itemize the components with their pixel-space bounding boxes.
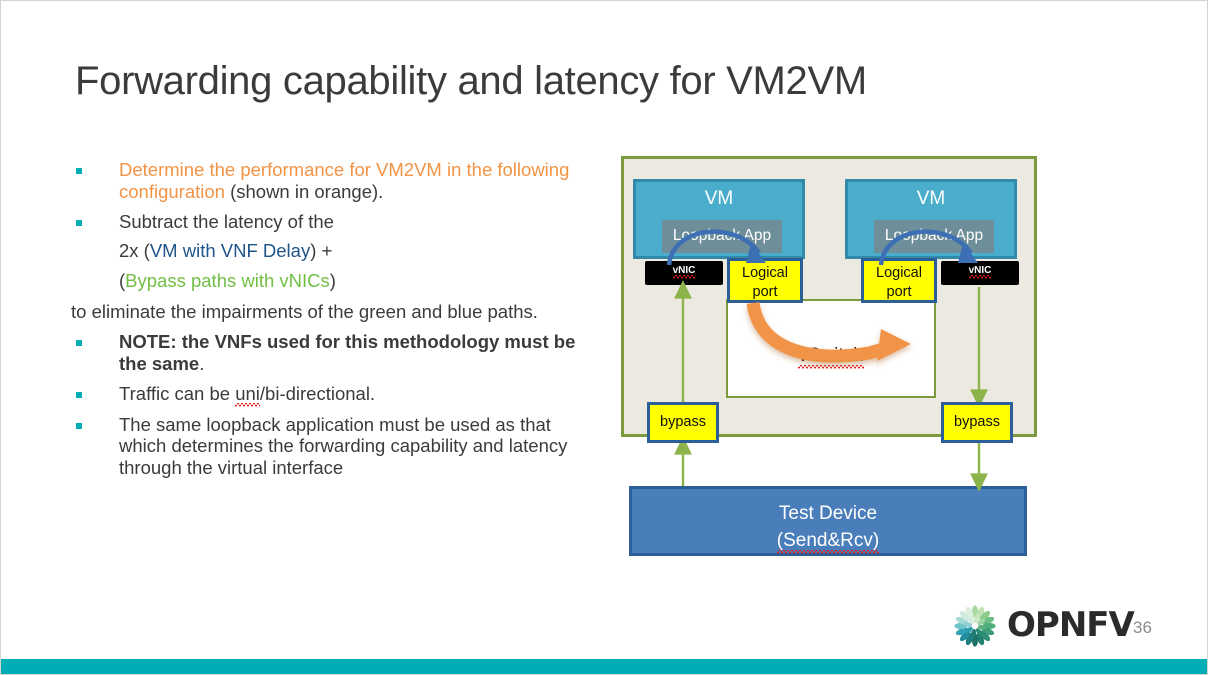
slide-canvas: Forwarding capability and latency for VM… [0,0,1208,675]
vm-box-left: VM Loopback App [633,179,805,259]
vnic-box-right: vNIC [941,261,1019,285]
logical-port-box-right: Logical port [861,258,937,303]
bullet-text: Traffic can be uni/bi-directional. [119,383,591,405]
bullet-text: NOTE: the VNFs used for this methodology… [119,331,591,374]
bullet-run-plain: (shown in orange). [225,181,383,202]
continuation-line-3: to eliminate the impairments of the gree… [119,301,591,323]
bullet-text: Determine the performance for VM2VM in t… [119,159,591,202]
text-run: 2x ( [119,240,150,261]
bullet-run-plain: Subtract the latency of the [119,211,334,232]
list-item: Subtract the latency of the [71,211,591,233]
text-run: ) [330,270,336,291]
vswitch-text: vSwitch [798,345,863,369]
vnic-box-left: vNIC [645,261,723,285]
loopback-app-box-left: Loopback App [662,220,782,253]
page-number: 36 [1133,618,1152,638]
test-device-box: Test Device (Send&Rcv) [629,486,1027,556]
logical-port-box-left: Logical port [727,258,803,303]
bullet-run-bold: NOTE: the VNFs used for this methodology… [119,331,575,374]
loopback-app-box-right: Loopback App [874,220,994,253]
vnic-label: vNIC [645,265,723,276]
bullet-marker-icon [76,423,82,429]
vm-box-right: VM Loopback App [845,179,1017,259]
list-item: The same loopback application must be us… [71,414,591,479]
list-item: Traffic can be uni/bi-directional. [71,383,591,405]
bypass-box-right: bypass [941,402,1013,443]
vm-label: VM [636,188,802,210]
bullet-list: Determine the performance for VM2VM in t… [71,159,591,487]
logical-port-label: Logical port [730,264,800,302]
vm-label: VM [848,188,1014,210]
loopback-app-label: Loopback App [874,227,994,245]
text-run: ) + [310,240,332,261]
bottom-accent-bar [1,659,1208,674]
opnfv-wordmark: OPNFV [1007,605,1134,645]
test-device-label: Test Device (Send&Rcv) [632,500,1024,554]
vswitch-box: vSwitch [726,299,936,398]
bullet-marker-icon [76,340,82,346]
vnic-label: vNIC [941,265,1019,276]
bullet-marker-icon [76,392,82,398]
vnic-text: vNIC [673,265,696,279]
bullet-marker-icon [76,220,82,226]
logical-port-line2: port [887,284,912,300]
vm2vm-architecture-diagram: vSwitch VM Loopback App VM [619,153,1049,563]
continuation-line-2: (Bypass paths with vNICs) [119,270,591,292]
bullet-text: The same loopback application must be us… [119,414,591,479]
text-run-green: Bypass paths with vNICs [125,270,330,291]
vnic-text: vNIC [969,265,992,279]
continuation-line-1: 2x (VM with VNF Delay) + [119,240,591,262]
bullet-run-plain: . [199,353,204,374]
logical-port-line1: Logical [876,265,922,281]
text-run: Traffic can be [119,383,235,404]
vswitch-label: vSwitch [728,345,934,367]
bypass-label: bypass [944,414,1010,430]
misspelled-word: uni [235,383,260,407]
logical-port-label: Logical port [864,264,934,302]
text-run: to eliminate the impairments of the gree… [71,301,538,322]
list-item: Determine the performance for VM2VM in t… [71,159,591,202]
loopback-app-label: Loopback App [662,227,782,245]
logical-port-line1: Logical [742,265,788,281]
list-item: NOTE: the VNFs used for this methodology… [71,331,591,374]
page-title: Forwarding capability and latency for VM… [75,59,867,104]
test-device-line2: (Send&Rcv) [777,530,879,554]
opnfv-petal-burst-icon [949,603,1001,649]
text-run-blue: VM with VNF Delay [150,240,310,261]
bullet-text: Subtract the latency of the [119,211,591,233]
bypass-label: bypass [650,414,716,430]
bullet-marker-icon [76,168,82,174]
bypass-box-left: bypass [647,402,719,443]
test-device-line1: Test Device [779,503,877,524]
logical-port-line2: port [753,284,778,300]
opnfv-logo: OPNFV [949,603,1119,649]
text-run: /bi-directional. [260,383,375,404]
